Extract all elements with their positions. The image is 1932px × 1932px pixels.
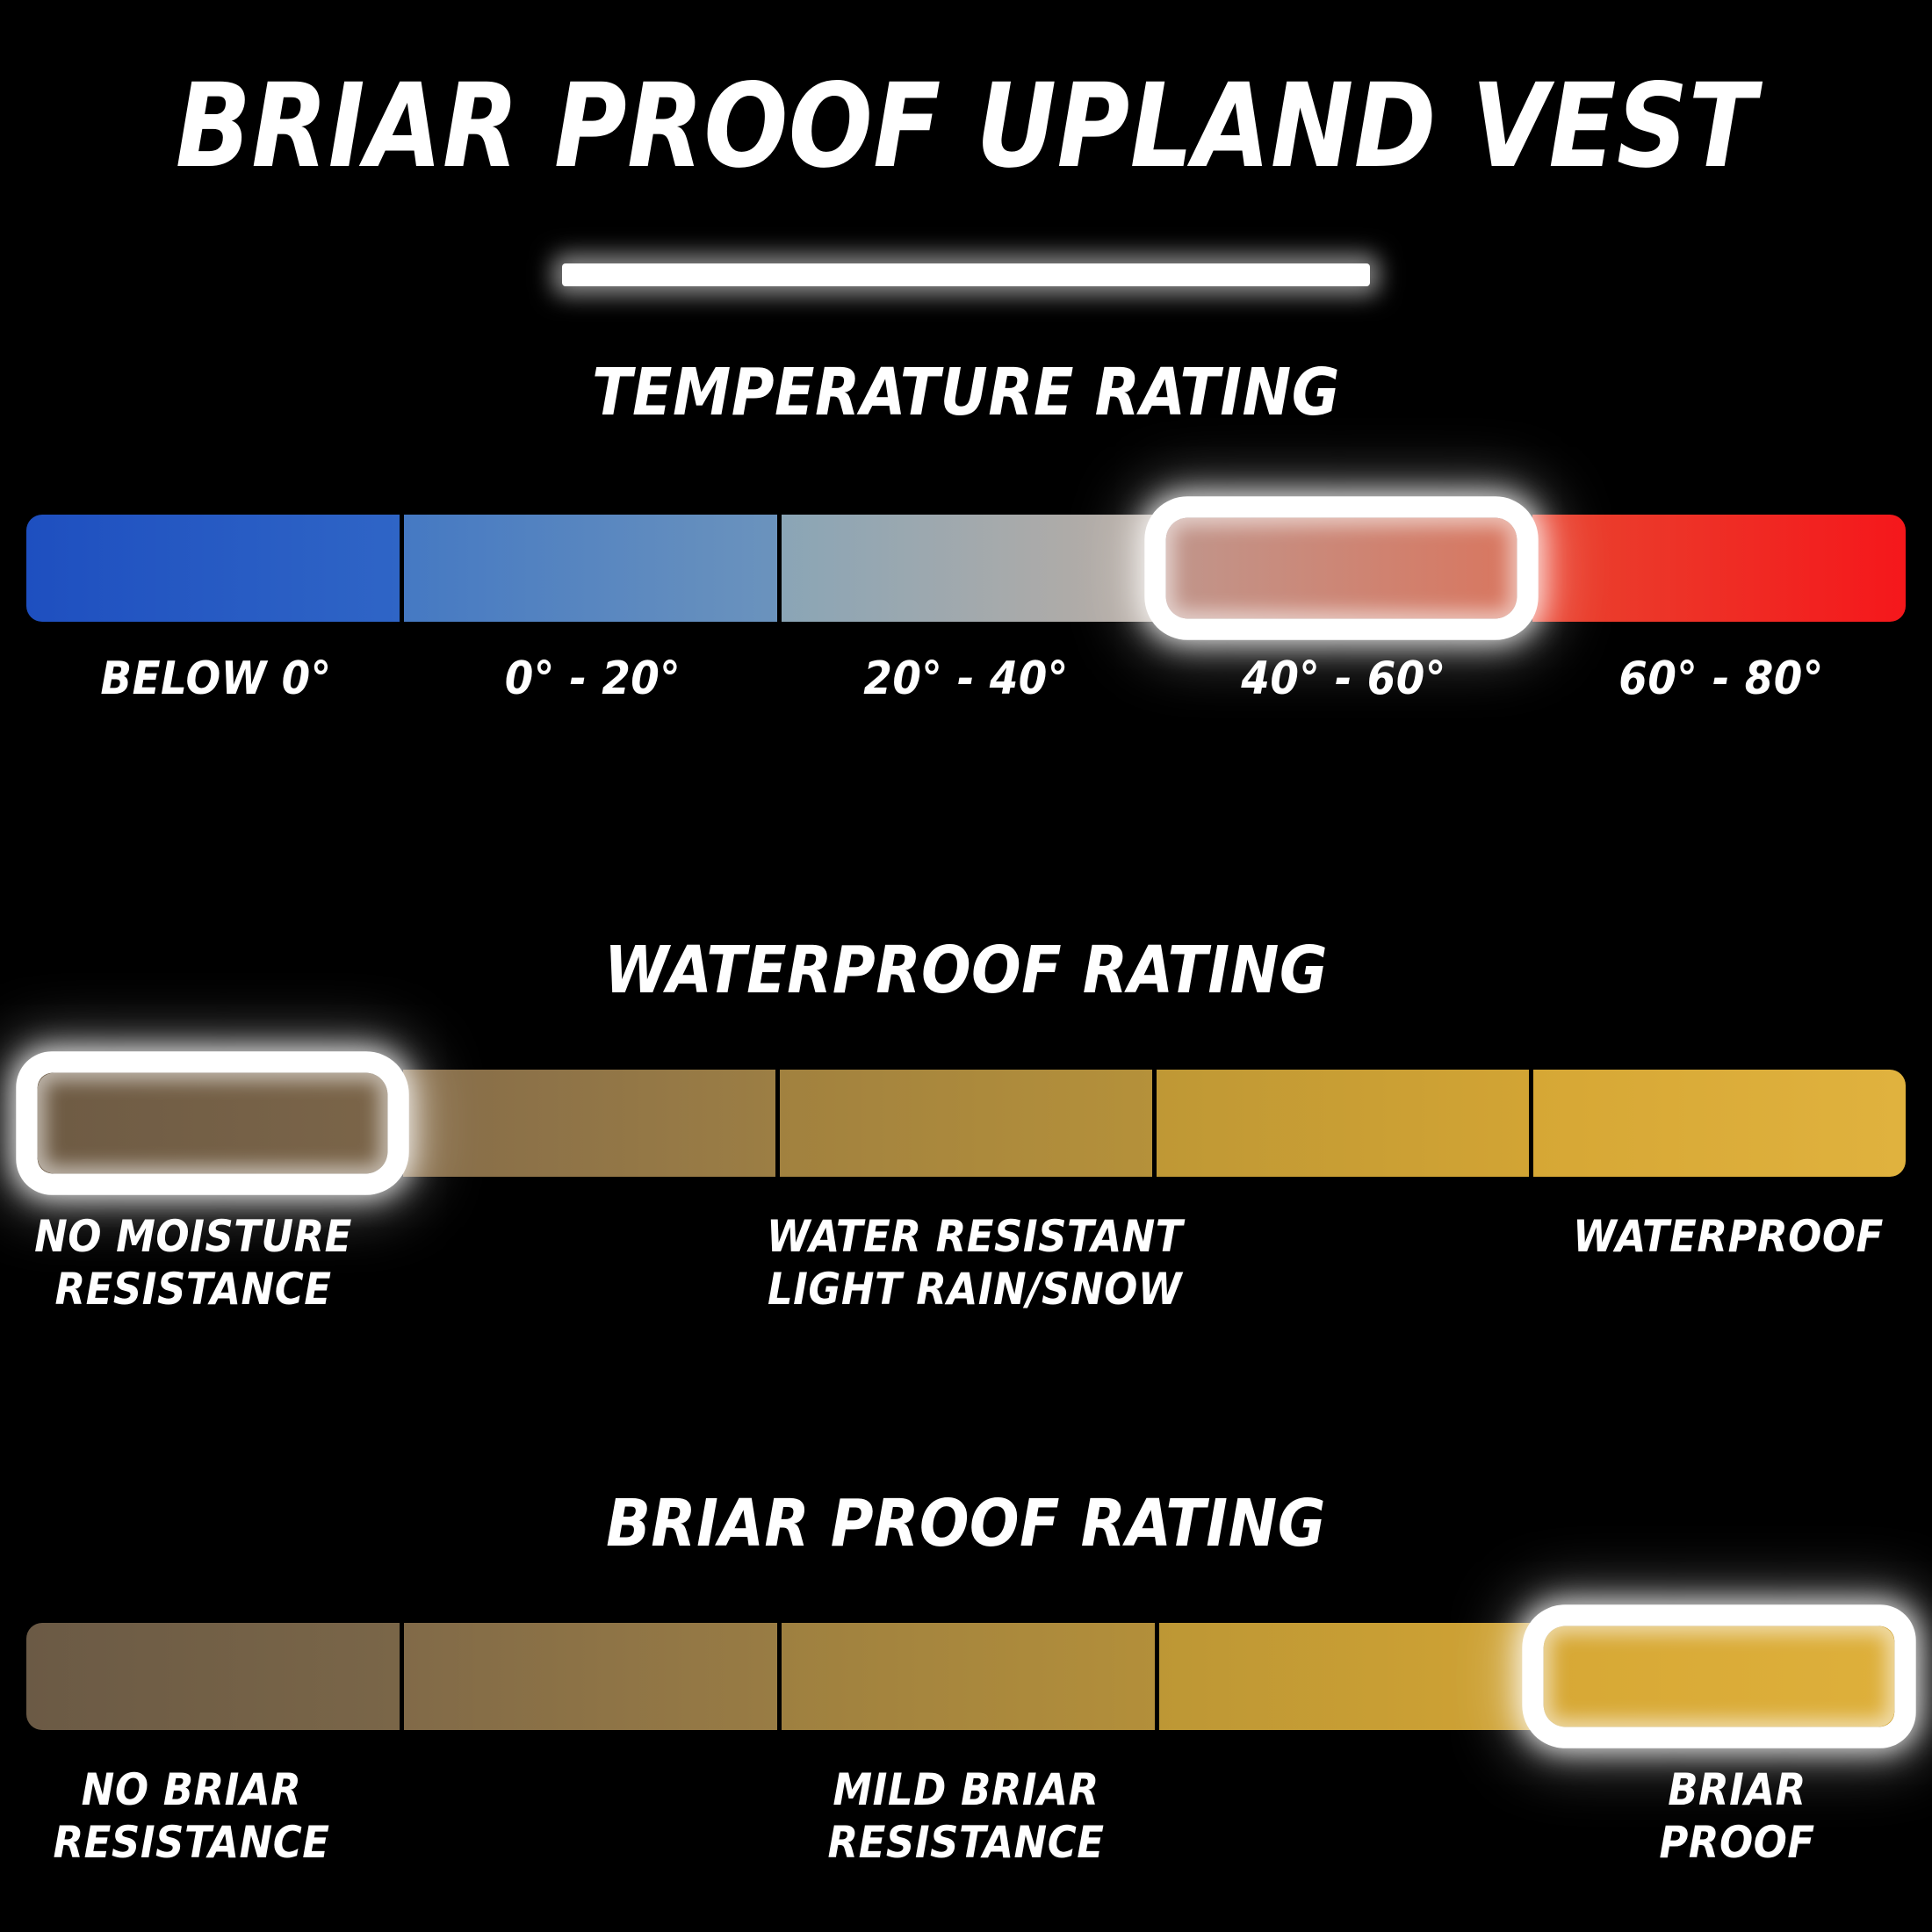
section-heading-briar: Briar Proof Rating	[0, 1491, 1932, 1556]
infographic-page: Briar Proof Upland Vest Temperature Rati…	[0, 0, 1932, 1932]
title-underline-rule	[562, 263, 1370, 286]
temperature-segment-0[interactable]	[26, 515, 400, 622]
waterproof-segment-0-selected[interactable]	[38, 1073, 388, 1174]
waterproof-labels: No Moisture Resistance Water Resistant L…	[0, 1210, 1932, 1368]
page-title: Briar Proof Upland Vest	[48, 68, 1884, 184]
temperature-label-0: Below 0°	[100, 652, 331, 706]
waterproof-segment-1[interactable]	[399, 1070, 775, 1177]
briar-segment-1[interactable]	[400, 1623, 777, 1730]
waterproof-segment-2[interactable]	[775, 1070, 1152, 1177]
waterproof-label-0: No Moisture Resistance	[34, 1210, 352, 1316]
briar-segment-0[interactable]	[26, 1623, 400, 1730]
waterproof-rating-bar	[26, 1070, 1906, 1177]
temperature-segment-4[interactable]	[1528, 515, 1906, 622]
briar-rating-bar	[26, 1623, 1906, 1730]
briar-label-2: Mild Briar Resistance	[828, 1763, 1105, 1869]
waterproof-label-2: Water Resistant Light Rain/Snow	[767, 1210, 1183, 1316]
briar-segment-2[interactable]	[777, 1623, 1155, 1730]
briar-segment-4-selected[interactable]	[1544, 1626, 1895, 1727]
temperature-labels: Below 0° 0° - 20° 20° - 40° 40° - 60° 60…	[0, 652, 1932, 810]
briar-segment-3[interactable]	[1155, 1623, 1532, 1730]
temperature-segment-3-selected[interactable]	[1166, 518, 1517, 619]
briar-labels: No Briar Resistance Mild Briar Resistanc…	[0, 1763, 1932, 1921]
temperature-label-1: 0° - 20°	[505, 652, 681, 706]
section-heading-temperature: Temperature Rating	[0, 360, 1932, 425]
section-heading-waterproof: Waterproof Rating	[0, 938, 1932, 1003]
temperature-label-3: 40° - 60°	[1241, 652, 1445, 706]
temperature-label-4: 60° - 80°	[1618, 652, 1823, 706]
waterproof-segment-3[interactable]	[1152, 1070, 1529, 1177]
temperature-label-2: 20° - 40°	[863, 652, 1068, 706]
briar-label-0: No Briar Resistance	[54, 1763, 330, 1869]
temperature-segment-2[interactable]	[777, 515, 1155, 622]
waterproof-label-4: Waterproof	[1573, 1210, 1884, 1263]
briar-label-4: Briar Proof	[1640, 1763, 1835, 1869]
waterproof-segment-4[interactable]	[1529, 1070, 1906, 1177]
temperature-segment-1[interactable]	[400, 515, 777, 622]
temperature-rating-bar	[26, 515, 1906, 622]
